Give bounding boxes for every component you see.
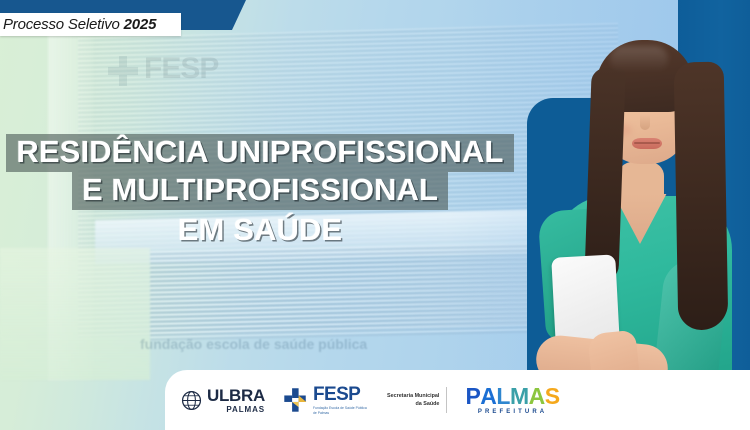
ulbra-globe-icon <box>181 390 202 411</box>
fesp-cross-watermark-icon <box>108 56 138 86</box>
palmas-wordmark: PALMAS <box>465 385 559 408</box>
logo-divider <box>446 387 447 413</box>
logo-secretaria-municipal: Secretaria Municipal da Saúde <box>387 387 447 413</box>
headline-line-2: E MULTIPROFISSIONAL <box>72 172 448 210</box>
headline-line-1: RESIDÊNCIA UNIPROFISSIONAL <box>6 134 513 172</box>
palmas-letter-1: A <box>480 385 496 408</box>
palmas-letter-0: P <box>465 385 480 408</box>
palmas-letter-5: S <box>545 385 560 408</box>
secretaria-line-2: da Saúde <box>387 400 439 408</box>
nurse-photo <box>540 10 750 430</box>
logo-palmas-prefeitura: PALMAS PREFEITURA <box>465 385 559 415</box>
logo-fesp: FESP Fundação Escola de Saúde Pública de… <box>283 385 369 415</box>
fesp-subtitle: Fundação Escola de Saúde Pública de Palm… <box>313 406 369 415</box>
palmas-subtitle: PREFEITURA <box>465 409 559 415</box>
headline-line-3: EM SAÚDE <box>168 212 352 250</box>
background-ghost-text: fundação escola de saúde pública <box>140 336 560 354</box>
ribbon-year: 2025 <box>124 16 157 33</box>
ulbra-wordmark: ULBRA PALMAS <box>207 387 265 414</box>
fesp-watermark-label: FESP <box>144 52 218 86</box>
secretaria-text: Secretaria Municipal da Saúde <box>387 392 439 408</box>
secretaria-line-1: Secretaria Municipal <box>387 392 439 400</box>
processo-seletivo-ribbon: Processo Seletivo 2025 <box>0 13 181 36</box>
mouth <box>632 138 662 149</box>
ulbra-subtitle: PALMAS <box>207 406 265 414</box>
promotional-banner: FESP fundação escola de saúde pública Pr… <box>0 0 750 430</box>
nose <box>640 114 650 130</box>
fesp-cross-icon <box>283 387 309 413</box>
ulbra-name: ULBRA <box>207 387 265 404</box>
hair-highlight <box>610 46 668 72</box>
logo-ulbra: ULBRA PALMAS <box>181 387 265 414</box>
footer-logo-bar: ULBRA PALMAS FESP Fundação Escola de Saú… <box>165 370 750 430</box>
background-fesp-watermark: FESP <box>108 42 228 104</box>
background-wall-lower-left <box>0 248 150 380</box>
palmas-letter-4: A <box>529 385 545 408</box>
ribbon-label: Processo Seletivo 2025 <box>0 16 156 33</box>
fesp-wordmark: FESP Fundação Escola de Saúde Pública de… <box>313 385 369 415</box>
fesp-name: FESP <box>313 385 369 404</box>
headline-block: RESIDÊNCIA UNIPROFISSIONAL E MULTIPROFIS… <box>0 134 520 250</box>
ribbon-prefix: Processo Seletivo <box>3 16 124 33</box>
footer-logos: ULBRA PALMAS FESP Fundação Escola de Saú… <box>181 370 561 430</box>
palmas-letter-3: M <box>510 385 529 408</box>
palmas-letter-2: L <box>496 385 510 408</box>
hair-right-strand <box>674 62 729 331</box>
